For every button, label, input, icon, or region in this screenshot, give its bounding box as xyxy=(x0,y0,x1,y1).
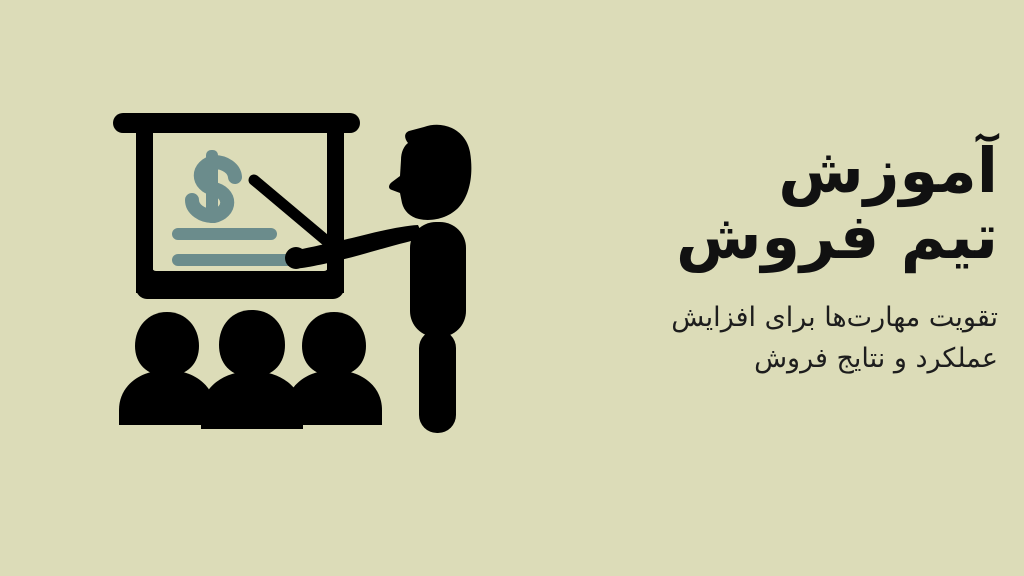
whiteboard-right-edge xyxy=(327,133,344,293)
page-title: آموزش تیم فروش xyxy=(568,138,998,271)
subtitle-line-1: تقویت مهارت‌ها برای افزایش xyxy=(671,302,998,333)
dollar-sign-icon xyxy=(192,150,235,223)
whiteboard-line-1 xyxy=(172,228,277,240)
whiteboard-icon xyxy=(113,113,360,299)
whiteboard-top-rail xyxy=(113,113,360,133)
whiteboard-bottom-bar xyxy=(136,276,344,299)
whiteboard-frame xyxy=(136,133,344,299)
presenter-legs xyxy=(419,330,456,433)
slide-root: آموزش تیم فروش تقویت مهارت‌ها برای افزای… xyxy=(0,0,1024,576)
illustration-sales-training xyxy=(0,0,560,576)
audience-silhouettes xyxy=(119,310,382,429)
presenter-hand xyxy=(285,247,307,269)
title-line-1: آموزش xyxy=(568,138,998,204)
whiteboard-line-2 xyxy=(172,254,304,266)
presenter-head xyxy=(389,125,471,220)
audience-member-1 xyxy=(119,312,215,425)
title-line-2: تیم فروش xyxy=(568,204,998,270)
subtitle-line-2: عملکرد و نتایج فروش xyxy=(754,343,998,374)
subtitle: تقویت مهارت‌ها برای افزایش عملکرد و نتای… xyxy=(568,297,998,379)
whiteboard-left-edge xyxy=(136,133,153,293)
headline-block: آموزش تیم فروش تقویت مهارت‌ها برای افزای… xyxy=(568,138,998,379)
audience-member-3 xyxy=(286,312,382,425)
